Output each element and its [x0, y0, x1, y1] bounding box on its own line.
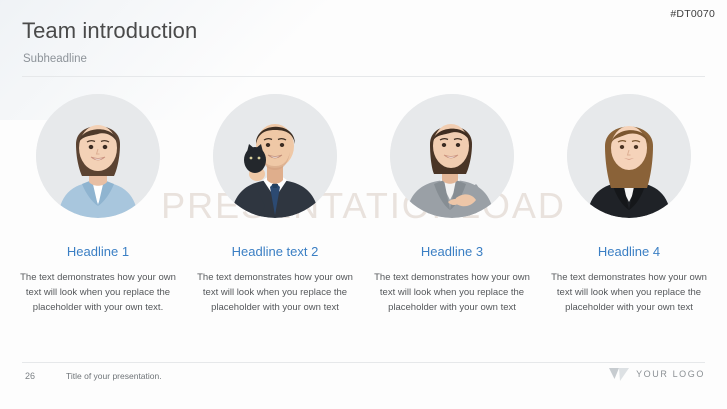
- logo-text-your: YOUR: [636, 369, 668, 379]
- body-text: The text demonstrates how your own text …: [548, 270, 710, 315]
- logo-text-logo: LOGO: [673, 369, 705, 379]
- header-divider: [22, 76, 705, 77]
- headline: Headline text 2: [232, 244, 319, 259]
- headline: Headline 3: [421, 244, 483, 259]
- person-photo-2: [213, 94, 337, 218]
- logo-mark-icon: [608, 366, 630, 382]
- team-columns: Headline 1 The text demonstrates how you…: [14, 94, 713, 315]
- headline: Headline 4: [598, 244, 660, 259]
- body-text: The text demonstrates how your own text …: [371, 270, 533, 315]
- body-text: The text demonstrates how your own text …: [194, 270, 356, 315]
- page-title: Team introduction: [22, 18, 197, 44]
- team-member-2: Headline text 2 The text demonstrates ho…: [191, 94, 359, 315]
- avatar: [213, 94, 337, 218]
- avatar: [567, 94, 691, 218]
- logo-text: YOUR LOGO: [636, 369, 705, 379]
- team-member-4: Headline 4 The text demonstrates how you…: [545, 94, 713, 315]
- headline: Headline 1: [67, 244, 129, 259]
- footer-title: Title of your presentation.: [66, 371, 162, 381]
- avatar: [36, 94, 160, 218]
- page-number: 26: [25, 371, 35, 381]
- person-photo-3: [390, 94, 514, 218]
- person-photo-4: [567, 94, 691, 218]
- team-member-3: Headline 3 The text demonstrates how you…: [368, 94, 536, 315]
- avatar: [390, 94, 514, 218]
- document-code: #DT0070: [670, 8, 715, 20]
- footer-divider: [22, 362, 705, 363]
- person-photo-1: [36, 94, 160, 218]
- page-subheadline: Subheadline: [23, 53, 87, 65]
- slide: #DT0070 Team introduction Subheadline PR…: [0, 0, 727, 409]
- team-member-1: Headline 1 The text demonstrates how you…: [14, 94, 182, 315]
- logo: YOUR LOGO: [608, 366, 705, 382]
- body-text: The text demonstrates how your own text …: [17, 270, 179, 315]
